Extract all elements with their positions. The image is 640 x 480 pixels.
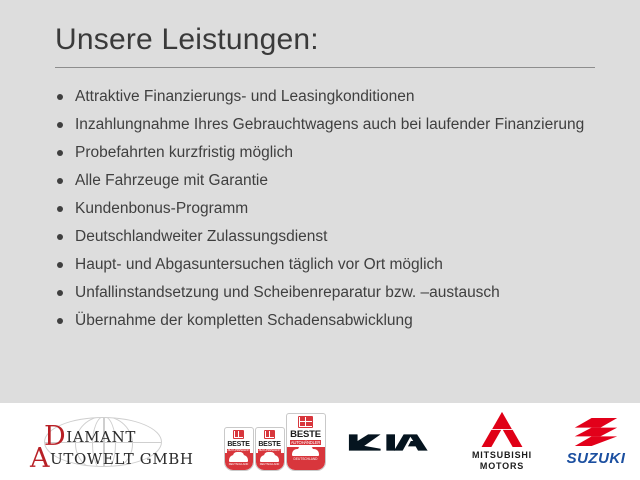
award-chip-icon (298, 416, 313, 428)
bullet-icon (57, 94, 63, 100)
page-title: Unsere Leistungen: (55, 22, 595, 58)
list-item: Unfallinstandsetzung und Scheibenreparat… (55, 282, 625, 304)
bullet-icon (57, 318, 63, 324)
bullet-icon (57, 290, 63, 296)
list-item: Attraktive Finanzierungs- und Leasingkon… (55, 86, 625, 108)
suzuki-s-icon (574, 417, 618, 447)
list-item-label: Inzahlungnahme Ihres Gebrauchtwagens auc… (75, 114, 625, 136)
award-badge: BESTE AUTOHÄNDLER 2022 DEUTSCHLAND (224, 427, 254, 471)
car-icon (260, 455, 280, 462)
award-title: BESTE (227, 441, 249, 448)
bullet-icon (57, 234, 63, 240)
brand-logo-suzuki: SUZUKI (552, 403, 640, 480)
bullet-icon (57, 178, 63, 184)
list-item: Alle Fahrzeuge mit Garantie (55, 170, 625, 192)
bullet-icon (57, 150, 63, 156)
list-item-label: Attraktive Finanzierungs- und Leasingkon… (75, 86, 625, 108)
list-item-label: Alle Fahrzeuge mit Garantie (75, 170, 625, 192)
bullet-icon (57, 122, 63, 128)
brand-logo-kia (337, 403, 452, 480)
dealer-logo: DIAMANT AUTOWELT GMBH (0, 403, 212, 480)
list-item: Inzahlungnahme Ihres Gebrauchtwagens auc… (55, 114, 625, 136)
award-badge: BESTE AUTOHÄNDLER 2024 DEUTSCHLAND (286, 413, 326, 471)
award-title: BESTE (290, 430, 321, 440)
bullet-icon (57, 262, 63, 268)
award-chip-icon (264, 430, 275, 439)
award-footer: DEUTSCHLAND (294, 458, 318, 461)
mitsubishi-name: MITSUBISHI (472, 450, 532, 461)
list-item-label: Kundenbonus-Programm (75, 198, 625, 220)
brand-logo-mitsubishi: MITSUBISHI MOTORS (452, 403, 552, 480)
award-footer: DEUTSCHLAND (229, 464, 248, 467)
award-badge: BESTE AUTOHÄNDLER 2023 DEUTSCHLAND (255, 427, 285, 471)
footer-logo-band: DIAMANT AUTOWELT GMBH BESTE AUTOHÄNDLER … (0, 403, 640, 480)
dealer-logo-line1: DIAMANT (44, 428, 136, 446)
services-list: Attraktive Finanzierungs- und Leasingkon… (55, 86, 625, 338)
mitsubishi-diamond-icon (481, 411, 523, 447)
list-item-label: Probefahrten kurzfristig möglich (75, 142, 625, 164)
list-item-label: Deutschlandweiter Zulassungsdienst (75, 226, 625, 248)
award-footer: DEUTSCHLAND (260, 464, 279, 467)
bullet-icon (57, 206, 63, 212)
slide-root: Unsere Leistungen: Attraktive Finanzieru… (0, 0, 640, 480)
list-item: Haupt- und Abgasuntersuchen täglich vor … (55, 254, 625, 276)
car-icon (229, 455, 249, 462)
list-item-label: Haupt- und Abgasuntersuchen täglich vor … (75, 254, 625, 276)
header: Unsere Leistungen: (55, 22, 595, 68)
award-title: BESTE (258, 441, 280, 448)
list-item-label: Übernahme der kompletten Schadensabwickl… (75, 310, 625, 332)
list-item: Kundenbonus-Programm (55, 198, 625, 220)
award-chip-icon (233, 430, 244, 439)
award-badges: BESTE AUTOHÄNDLER 2022 DEUTSCHLAND BESTE… (212, 403, 337, 480)
mitsubishi-name-2: MOTORS (480, 461, 524, 472)
kia-icon (347, 425, 443, 459)
list-item: Deutschlandweiter Zulassungsdienst (55, 226, 625, 248)
list-item: Übernahme der kompletten Schadensabwickl… (55, 310, 625, 332)
title-divider (55, 67, 595, 68)
suzuki-name: SUZUKI (567, 450, 626, 467)
dealer-logo-line2: AUTOWELT GMBH (30, 450, 194, 468)
list-item-label: Unfallinstandsetzung und Scheibenreparat… (75, 282, 625, 304)
list-item: Probefahrten kurzfristig möglich (55, 142, 625, 164)
car-icon (292, 449, 319, 456)
